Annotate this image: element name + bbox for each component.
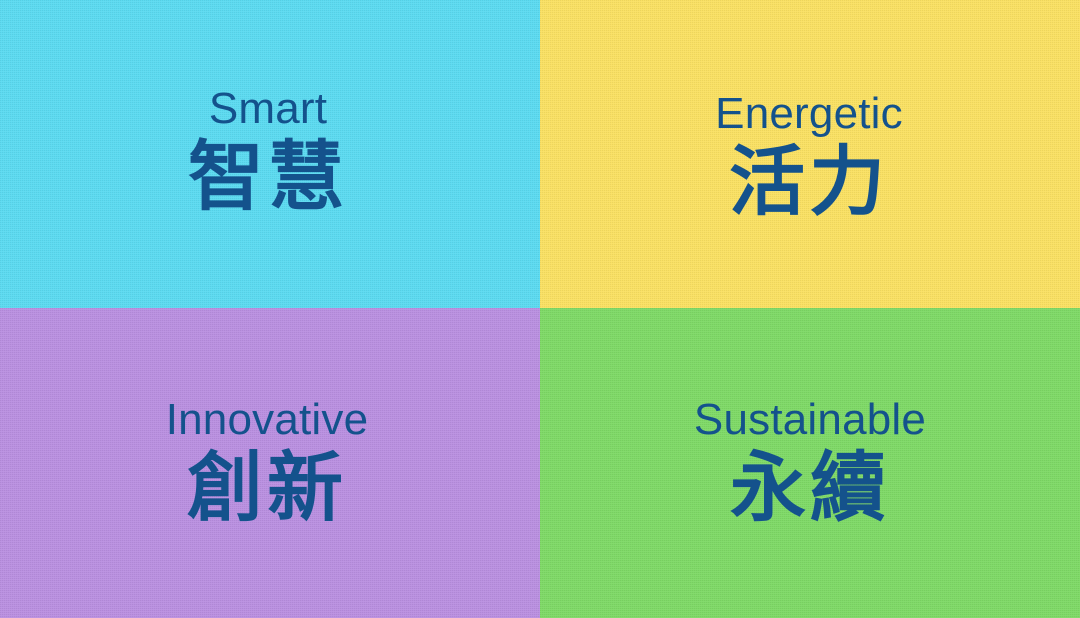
quadrant-energetic[interactable]: Energetic 活力 bbox=[540, 0, 1080, 308]
quadrant-innovative-label-zh: 創新 bbox=[187, 447, 347, 529]
label-stack-sustainable: Sustainable 永續 bbox=[694, 397, 926, 529]
brand-values-grid: Smart 智慧 Energetic 活力 Innovative 創新 Sust… bbox=[0, 0, 1080, 618]
label-stack-innovative: Innovative 創新 bbox=[166, 397, 369, 529]
quadrant-sustainable-label-en: Sustainable bbox=[694, 397, 926, 443]
quadrant-sustainable[interactable]: Sustainable 永續 bbox=[540, 308, 1080, 618]
quadrant-innovative[interactable]: Innovative 創新 bbox=[0, 308, 540, 618]
quadrant-smart-label-zh: 智慧 bbox=[188, 136, 348, 218]
quadrant-innovative-label-en: Innovative bbox=[166, 397, 369, 443]
quadrant-smart-label-en: Smart bbox=[209, 86, 327, 132]
label-stack-smart: Smart 智慧 bbox=[188, 86, 348, 218]
quadrant-sustainable-label-zh: 永續 bbox=[730, 447, 890, 529]
quadrant-energetic-label-en: Energetic bbox=[715, 91, 903, 137]
quadrant-energetic-label-zh: 活力 bbox=[729, 141, 889, 223]
quadrant-smart[interactable]: Smart 智慧 bbox=[0, 0, 540, 308]
label-stack-energetic: Energetic 活力 bbox=[715, 91, 903, 223]
